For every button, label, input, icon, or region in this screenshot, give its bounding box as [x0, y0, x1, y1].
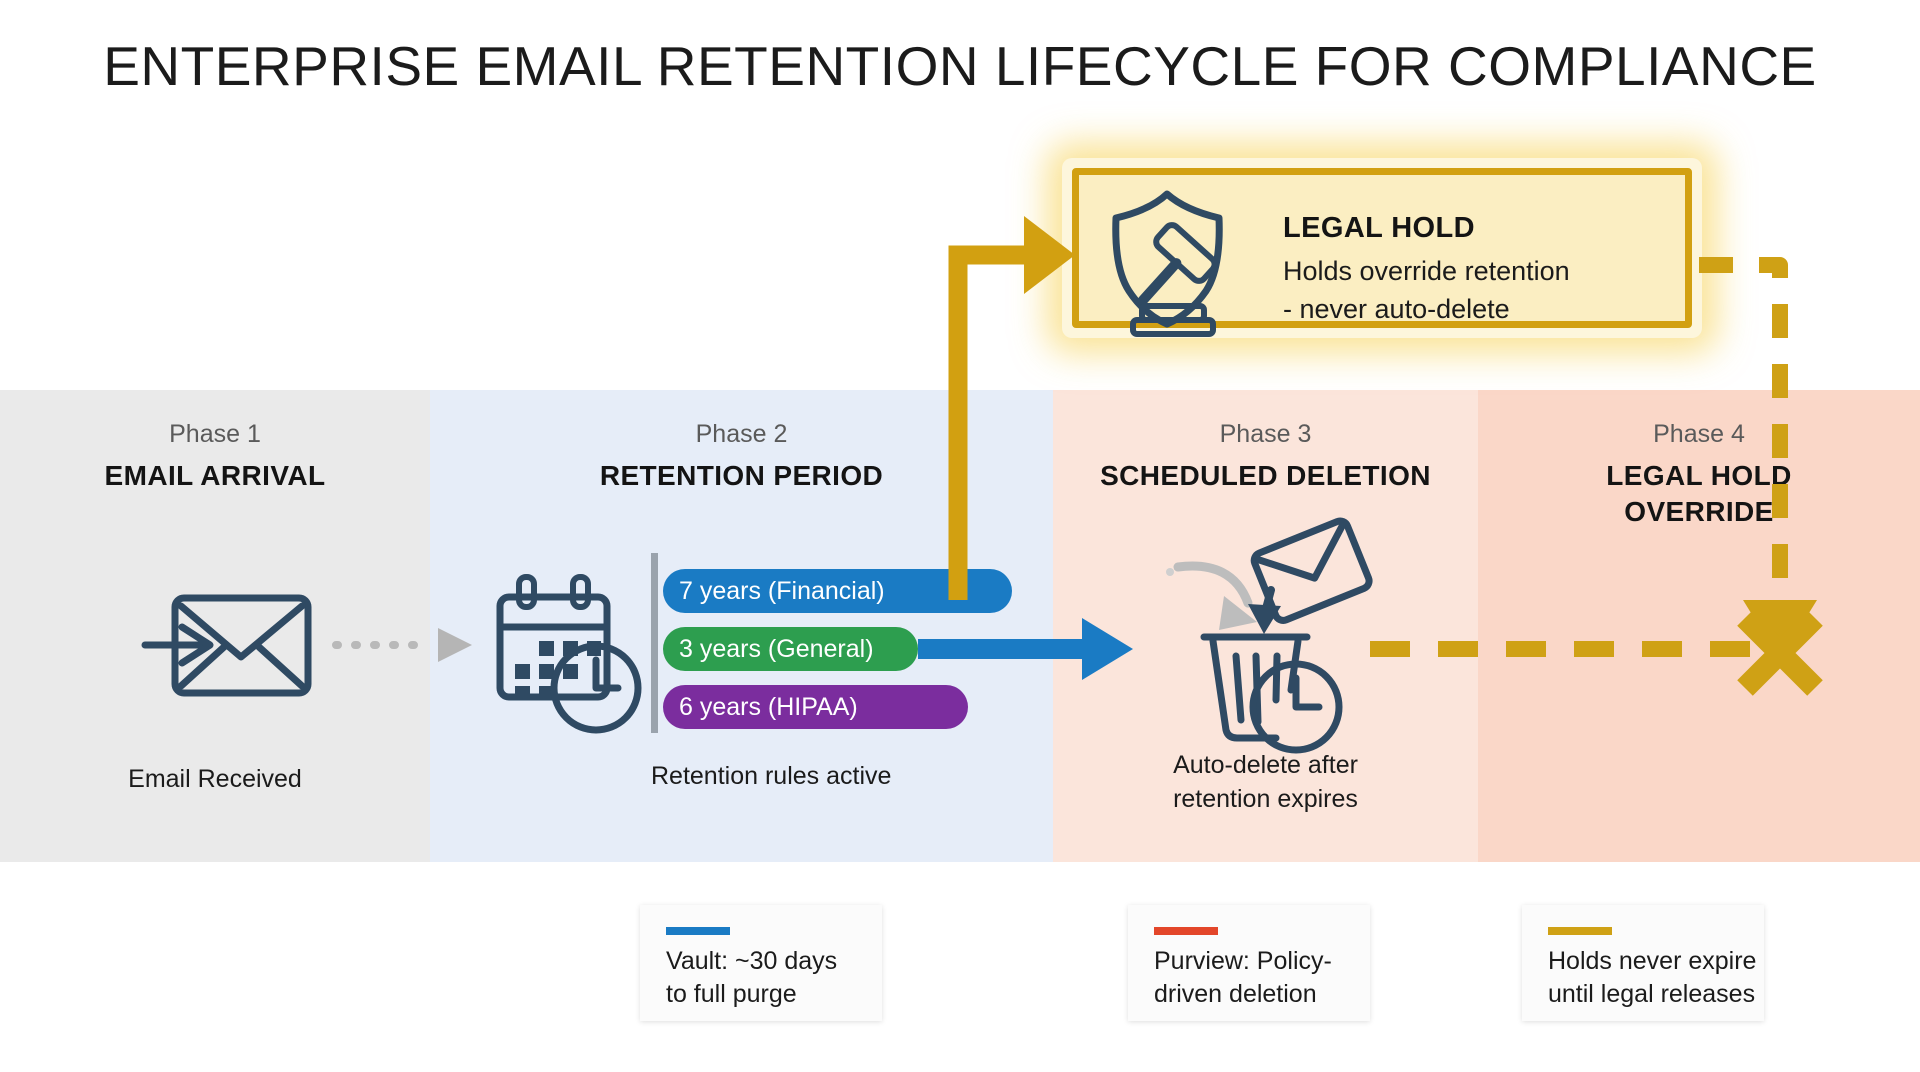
phase-2-column: Phase 2 RETENTION PERIOD — [430, 0, 1053, 862]
legend-text-vault: Vault: ~30 daysto full purge — [666, 945, 881, 1011]
phase-1-kicker: Phase 1 — [0, 420, 430, 449]
phase-3-title: SCHEDULED DELETION — [1053, 458, 1478, 494]
retention-bar-hipaa-label: 6 years (HIPAA) — [679, 693, 858, 722]
phase-3-caption: Auto-delete afterretention expires — [1053, 748, 1478, 816]
diagram-canvas: ENTERPRISE EMAIL RETENTION LIFECYCLE FOR… — [0, 0, 1920, 1072]
retention-bar-general-label: 3 years (General) — [679, 635, 874, 664]
phase-1-title: EMAIL ARRIVAL — [0, 458, 430, 494]
phase-3-column: Phase 3 SCHEDULED DELETION Auto-delete a… — [1053, 0, 1478, 862]
phase-2-caption: Retention rules active — [651, 762, 1011, 791]
retention-bar-general: 3 years (General) — [663, 627, 918, 671]
legal-hold-description: Holds override retention - never auto-de… — [1283, 252, 1570, 328]
phase-4-column: Phase 4 LEGAL HOLDOVERRIDE — [1478, 0, 1920, 862]
legend-swatch-vault — [666, 927, 730, 935]
phase-1-caption: Email Received — [0, 762, 430, 796]
legend-swatch-holds — [1548, 927, 1612, 935]
legend-text-holds: Holds never expireuntil legal releases — [1548, 945, 1763, 1011]
legend-item-vault: Vault: ~30 daysto full purge — [640, 905, 882, 1021]
retention-axis — [651, 553, 658, 733]
legend-swatch-purview — [1154, 927, 1218, 935]
legal-hold-title: LEGAL HOLD — [1283, 212, 1475, 245]
retention-bar-financial-label: 7 years (Financial) — [679, 577, 885, 606]
phase-2-kicker: Phase 2 — [430, 420, 1053, 449]
legend-item-holds: Holds never expireuntil legal releases — [1522, 905, 1764, 1021]
phase-3-kicker: Phase 3 — [1053, 420, 1478, 449]
legend-item-purview: Purview: Policy-driven deletion — [1128, 905, 1370, 1021]
legal-hold-description-line1: Holds override retention — [1283, 252, 1570, 290]
phase-4-title: LEGAL HOLDOVERRIDE — [1478, 458, 1920, 530]
phase-4-kicker: Phase 4 — [1478, 420, 1920, 449]
legend-text-purview: Purview: Policy-driven deletion — [1154, 945, 1369, 1011]
phase-2-title: RETENTION PERIOD — [430, 458, 1053, 494]
phase-1-column: Phase 1 EMAIL ARRIVAL Email Received — [0, 0, 430, 862]
legal-hold-description-line2: - never auto-delete — [1283, 290, 1570, 328]
retention-bar-hipaa: 6 years (HIPAA) — [663, 685, 968, 729]
retention-bar-financial: 7 years (Financial) — [663, 569, 1012, 613]
